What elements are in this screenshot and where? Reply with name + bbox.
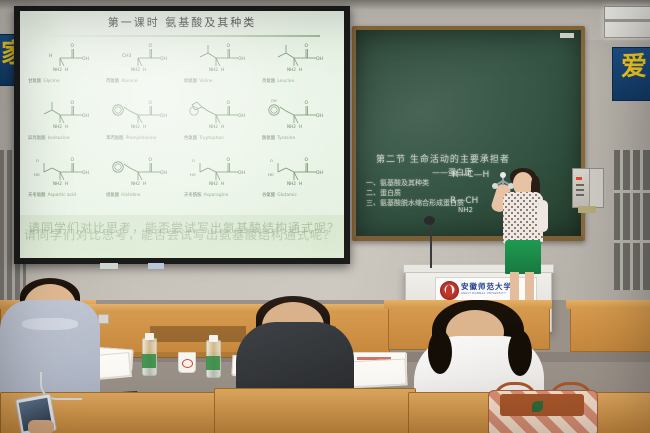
teacher-skirt (505, 240, 541, 274)
chalkboard-formula-1: R—C—H (452, 170, 489, 180)
microphone-icon (424, 216, 435, 225)
chalkboard-bullet-1: 一、氨基酸及其种类 (366, 178, 429, 188)
desk-shelf-left (150, 326, 246, 342)
handbag-emblem-icon (532, 401, 543, 412)
wall-socket (98, 314, 109, 324)
desk-far-right-top (566, 300, 650, 309)
university-name-en: ANHUI NORMAL UNIVERSITY (461, 292, 506, 295)
teacher-arm (538, 200, 548, 232)
wall-sign-right: 爱 (612, 47, 650, 101)
paper-cup (178, 352, 196, 373)
student-left-collar (22, 318, 78, 330)
right-window-bars (614, 150, 650, 290)
chalk-tray (354, 236, 583, 241)
papers-stack-d (345, 358, 406, 387)
water-bottle-2 (206, 340, 221, 378)
water-bottle-1 (142, 338, 157, 376)
university-logo-icon (440, 281, 459, 300)
bench-center (214, 388, 416, 433)
desk-far-right (570, 306, 650, 352)
board-eraser (560, 33, 574, 38)
desk-center-top (84, 304, 392, 313)
chalkboard-formula-2: R—CH (450, 196, 478, 206)
student-right-hair-left (428, 330, 452, 374)
electrical-panel (572, 168, 604, 208)
hand-holding-phone (28, 420, 54, 433)
chalkboard-title: 第二节 生命活动的主要承担者 (376, 152, 510, 165)
classroom-photo: 家 爱 第二节 生命活动的主要承担者 ——蛋白质 一、氨基酸及其种类 二、蛋白质… (0, 0, 650, 433)
window-light (604, 6, 650, 38)
screen-shelf-item-2 (148, 263, 164, 269)
student-right-hair-right (508, 330, 532, 376)
panel-base (578, 206, 596, 213)
chalkboard-formula-3: NH2 (458, 206, 473, 214)
university-name-cn: 安徽师范大学 (461, 281, 512, 292)
screen-shelf-item-1 (100, 263, 118, 269)
teacher-blouse (503, 192, 543, 244)
microphone-stand (430, 224, 432, 268)
screen-glare (20, 11, 344, 258)
chalkboard-bullet-2: 二、蛋白质 (366, 188, 401, 198)
